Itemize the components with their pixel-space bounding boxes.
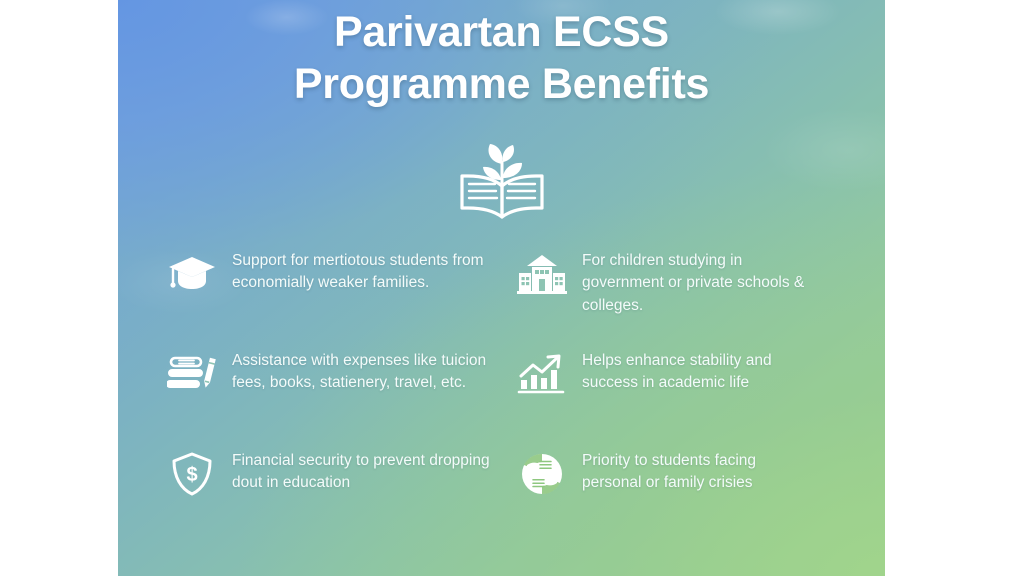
open-book-with-sapling-icon: [450, 128, 554, 224]
benefit-item: Priority to students facing personal or …: [516, 440, 846, 540]
benefit-text: Support for mertiotous students from eco…: [232, 240, 494, 295]
books-and-pencil-icon: [166, 348, 218, 400]
graduation-cap-icon: [166, 248, 218, 300]
benefit-text: Financial security to prevent dropping d…: [232, 440, 494, 495]
benefit-item: $ Financial security to prevent dropping…: [166, 440, 516, 540]
benefit-text: Priority to students facing personal or …: [582, 440, 814, 495]
presentation-slide: Parivartan ECSS Programme Benefits: [118, 0, 885, 576]
benefit-item: Assistance with expenses like tuicion fe…: [166, 340, 516, 440]
svg-text:$: $: [186, 464, 197, 486]
title-line-1: Parivartan ECSS: [118, 6, 885, 58]
screenshot-canvas: Parivartan ECSS Programme Benefits: [0, 0, 1024, 576]
benefit-item: Support for mertiotous students from eco…: [166, 240, 516, 340]
benefit-text: Helps enhance stability and success in a…: [582, 340, 814, 395]
title-line-2: Programme Benefits: [118, 58, 885, 110]
benefit-item: Helps enhance stability and success in a…: [516, 340, 846, 440]
shield-dollar-icon: $: [166, 448, 218, 500]
benefit-text: For children studying in government or p…: [582, 240, 814, 317]
helping-hands-icon: [516, 448, 568, 500]
benefits-grid: Support for mertiotous students from eco…: [166, 240, 846, 540]
benefit-item: For children studying in government or p…: [516, 240, 846, 340]
slide-title: Parivartan ECSS Programme Benefits: [118, 6, 885, 110]
school-building-icon: [516, 248, 568, 300]
benefit-text: Assistance with expenses like tuicion fe…: [232, 340, 494, 395]
growth-chart-icon: [516, 348, 568, 400]
